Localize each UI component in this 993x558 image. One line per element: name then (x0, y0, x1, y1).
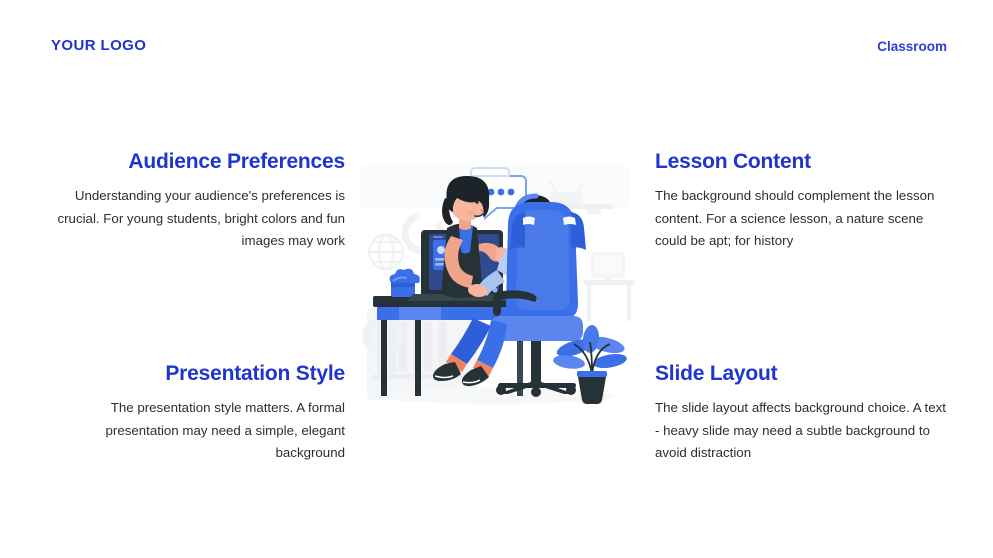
brand-logo[interactable]: YOUR LOGO (51, 37, 146, 54)
content-block-lesson-content: Lesson Content The background should com… (655, 150, 947, 253)
block-title-presentation-style: Presentation Style (53, 362, 345, 386)
block-title-lesson-content: Lesson Content (655, 150, 947, 174)
two-people-at-desk-conversation-illustration (355, 140, 637, 408)
block-body-slide-layout: The slide layout affects background choi… (655, 397, 947, 465)
content-block-audience-preferences: Audience Preferences Understanding your … (53, 150, 345, 253)
block-title-audience-preferences: Audience Preferences (53, 150, 345, 174)
block-title-slide-layout: Slide Layout (655, 362, 947, 386)
content-block-presentation-style: Presentation Style The presentation styl… (53, 362, 345, 465)
slide-root: YOUR LOGO Classroom Audience Preferences… (0, 0, 993, 558)
block-body-lesson-content: The background should complement the les… (655, 185, 947, 253)
header-category-label[interactable]: Classroom (877, 39, 947, 54)
block-body-audience-preferences: Understanding your audience's preference… (53, 185, 345, 253)
content-block-slide-layout: Slide Layout The slide layout affects ba… (655, 362, 947, 465)
block-body-presentation-style: The presentation style matters. A formal… (53, 397, 345, 465)
